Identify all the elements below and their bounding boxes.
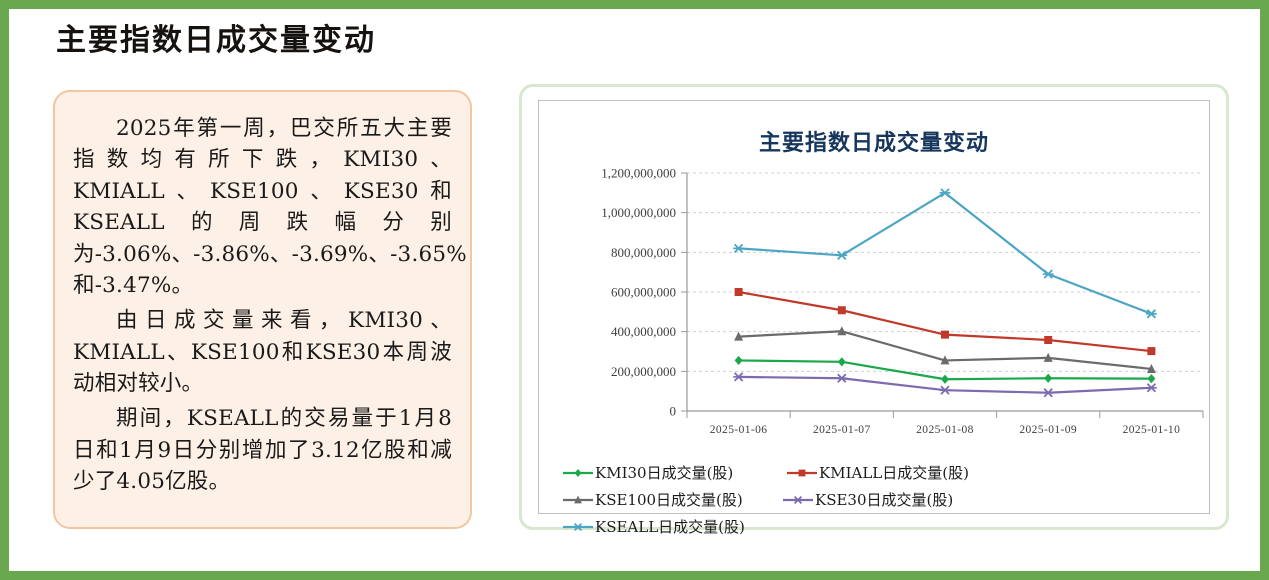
left-column: 主要指数日成交量变动 <box>56 21 476 62</box>
legend-marker-icon <box>561 466 595 480</box>
series-data-point <box>1147 347 1155 355</box>
legend-item-label: KSEALL日成交量(股) <box>595 516 745 537</box>
chart-gridlines <box>687 173 1203 371</box>
chart-legend: KMI30日成交量(股)KMIALL日成交量(股)KSE100日成交量(股)KS… <box>561 459 1199 540</box>
chart-series <box>733 189 1157 318</box>
series-data-point <box>940 386 951 394</box>
slide-root: 主要指数日成交量变动 2025年第一周，巴交所五大主要指数均有所下跌，KMI30… <box>0 0 1269 580</box>
chart-plot-area: 0200,000,000400,000,000600,000,000800,00… <box>539 163 1215 453</box>
y-axis-tick-label: 400,000,000 <box>611 324 676 339</box>
summary-paragraph-2: 由日成交量来看，KMI30、KMIALL、KSE100和KSE30本周波动相对较… <box>73 305 452 399</box>
chart-title: 主要指数日成交量变动 <box>539 125 1209 157</box>
legend-item-label: KSE100日成交量(股) <box>595 489 743 510</box>
summary-paragraph-3: 期间，KSEALL的交易量于1月8日和1月9日分别增加了3.12亿股和减少了4.… <box>73 403 452 497</box>
legend-marker-icon <box>781 493 815 507</box>
chart-series <box>735 288 1156 355</box>
series-data-point <box>836 374 847 382</box>
y-axis-tick-label: 1,000,000,000 <box>601 205 676 220</box>
legend-item-label: KMIALL日成交量(股) <box>819 462 969 483</box>
x-axis-tick-label: 2025-01-07 <box>813 424 871 436</box>
y-axis-tick-label: 1,200,000,000 <box>601 166 676 181</box>
series-data-point <box>735 356 743 365</box>
legend-marker-icon <box>561 493 595 507</box>
legend-item[interactable]: KSEALL日成交量(股) <box>561 513 779 540</box>
series-data-point <box>735 288 743 296</box>
series-data-point <box>1044 374 1052 383</box>
summary-text-card: 2025年第一周，巴交所五大主要指数均有所下跌，KMI30、KMIALL、KSE… <box>53 90 472 529</box>
line-chart-svg: 0200,000,000400,000,000600,000,000800,00… <box>539 163 1215 453</box>
legend-item-label: KMI30日成交量(股) <box>595 462 733 483</box>
legend-item[interactable]: KSE100日成交量(股) <box>561 486 775 513</box>
y-axis-tick-label: 200,000,000 <box>611 364 676 379</box>
x-axis-tick-label: 2025-01-06 <box>710 424 768 436</box>
series-data-point <box>940 189 951 197</box>
chart-frame: 主要指数日成交量变动 0200,000,000400,000,000600,00… <box>538 100 1210 514</box>
series-data-point <box>838 306 846 314</box>
chart-x-axis: 2025-01-062025-01-072025-01-082025-01-09… <box>687 411 1203 436</box>
chart-panel: 主要指数日成交量变动 0200,000,000400,000,000600,00… <box>519 84 1229 530</box>
x-axis-tick-label: 2025-01-09 <box>1019 424 1077 436</box>
y-axis-tick-label: 600,000,000 <box>611 285 676 300</box>
y-axis-tick-label: 0 <box>670 404 677 419</box>
series-line <box>739 292 1152 351</box>
legend-item-label: KSE30日成交量(股) <box>815 489 953 510</box>
series-data-point <box>838 357 846 366</box>
x-axis-tick-label: 2025-01-10 <box>1123 424 1181 436</box>
series-data-point <box>1043 389 1054 397</box>
legend-marker-icon <box>561 520 595 534</box>
series-data-point <box>941 331 949 339</box>
x-axis-tick-label: 2025-01-08 <box>916 424 974 436</box>
summary-text-body: 2025年第一周，巴交所五大主要指数均有所下跌，KMI30、KMIALL、KSE… <box>55 92 470 512</box>
series-data-point <box>1044 336 1052 344</box>
series-data-point <box>733 373 744 381</box>
series-data-point <box>1043 270 1054 278</box>
series-data-point <box>1146 310 1157 318</box>
legend-item[interactable]: KSE30日成交量(股) <box>781 486 999 513</box>
series-data-point <box>733 244 744 252</box>
legend-item[interactable]: KMI30日成交量(股) <box>561 459 779 486</box>
legend-marker-icon <box>785 466 819 480</box>
page-title: 主要指数日成交量变动 <box>56 21 476 62</box>
summary-paragraph-1: 2025年第一周，巴交所五大主要指数均有所下跌，KMI30、KMIALL、KSE… <box>73 113 452 301</box>
chart-series-group <box>733 189 1157 397</box>
chart-y-axis: 0200,000,000400,000,000600,000,000800,00… <box>601 166 687 419</box>
series-data-point <box>836 251 847 259</box>
legend-item[interactable]: KMIALL日成交量(股) <box>785 459 1003 486</box>
series-data-point <box>941 375 949 384</box>
series-data-point <box>1146 384 1157 392</box>
series-line <box>739 193 1152 314</box>
series-data-point <box>1147 374 1155 383</box>
y-axis-tick-label: 800,000,000 <box>611 245 676 260</box>
